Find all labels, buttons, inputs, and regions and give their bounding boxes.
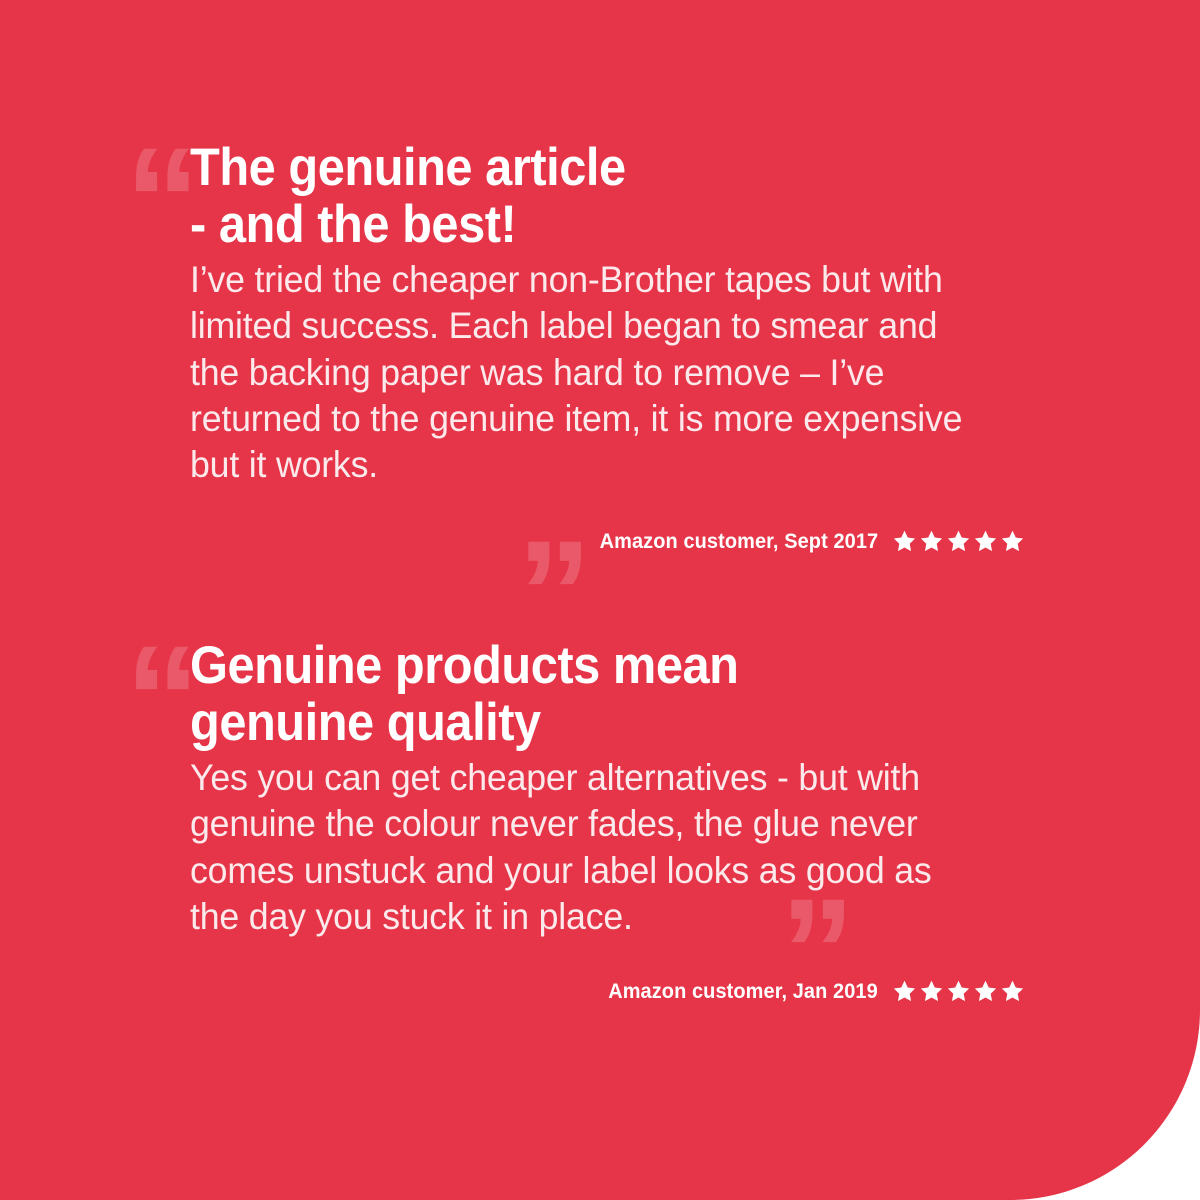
star-icon <box>892 529 917 554</box>
star-icon <box>1000 529 1025 554</box>
review-attribution: Amazon customer, Sept 2017 <box>125 529 1025 554</box>
star-icon <box>946 979 971 1004</box>
star-icon <box>973 529 998 554</box>
review-card: “ The genuine article - and the best! I’… <box>0 0 1200 1200</box>
review-heading: The genuine article - and the best! <box>190 140 958 253</box>
star-rating <box>892 529 1025 554</box>
attribution-name: Amazon customer, Jan 2019 <box>608 980 878 1004</box>
open-quote-icon: “ <box>125 140 187 220</box>
attribution-name: Amazon customer, Sept 2017 <box>599 530 878 554</box>
star-icon <box>919 529 944 554</box>
review-text: I’ve tried the cheaper non-Brother tapes… <box>190 257 996 487</box>
review-item: “ The genuine article - and the best! I’… <box>125 140 1025 488</box>
reviews-list: “ The genuine article - and the best! I’… <box>0 0 1200 1200</box>
review-item: “ Genuine products mean genuine quality … <box>125 638 1025 940</box>
star-icon <box>1000 979 1025 1004</box>
open-quote-icon: “ <box>125 638 187 718</box>
star-rating <box>892 979 1025 1004</box>
review-body: Genuine products mean genuine quality Ye… <box>190 638 1025 940</box>
star-icon <box>973 979 998 1004</box>
review-body: The genuine article - and the best! I’ve… <box>190 140 1025 488</box>
star-icon <box>892 979 917 1004</box>
review-attribution: Amazon customer, Jan 2019 <box>125 979 1025 1004</box>
review-heading: Genuine products mean genuine quality <box>190 638 958 751</box>
star-icon <box>946 529 971 554</box>
star-icon <box>919 979 944 1004</box>
review-text: Yes you can get cheaper alternatives - b… <box>190 755 996 939</box>
